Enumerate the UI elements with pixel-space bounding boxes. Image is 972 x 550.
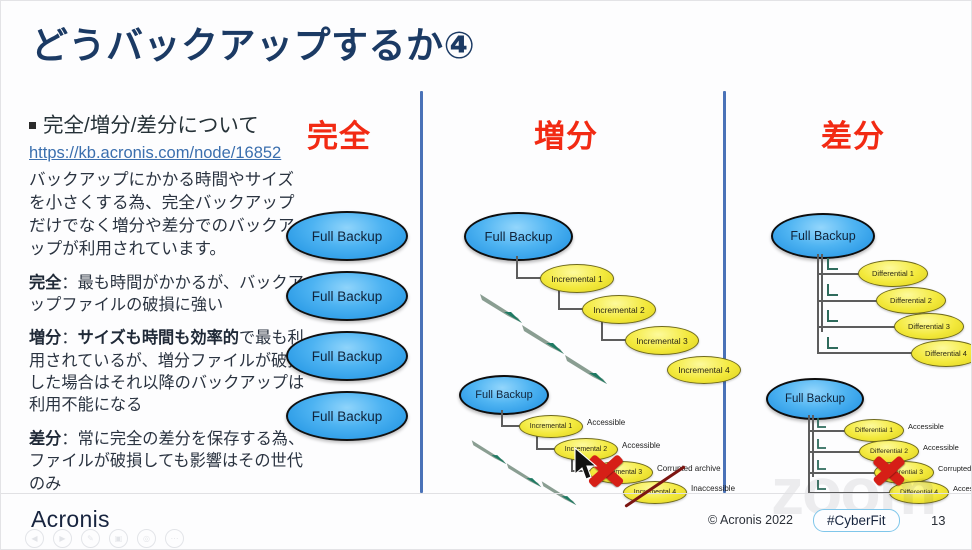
previous-icon[interactable]: ◀ bbox=[25, 529, 44, 548]
differential-node: Differential 1 bbox=[858, 260, 928, 287]
branch-arrow-icon bbox=[815, 479, 827, 493]
column-header-differential: 差分 bbox=[821, 111, 885, 156]
zoom-icon[interactable]: ◎ bbox=[137, 529, 156, 548]
footer-divider bbox=[1, 493, 972, 494]
page-number: 13 bbox=[931, 513, 945, 528]
incremental-node: Incremental 3 bbox=[625, 326, 699, 355]
paragraph-differential-term: 差分 bbox=[29, 430, 61, 448]
green-arrow-icon bbox=[504, 460, 544, 488]
incremental-chain-diagram: Full Backup Incremental 1 Incremental 2 … bbox=[456, 206, 716, 366]
connector bbox=[817, 273, 862, 275]
branch-arrow-icon bbox=[815, 417, 827, 431]
square-bullet-icon bbox=[29, 122, 36, 129]
left-text-column: 完全/増分/差分について https://kb.acronis.com/node… bbox=[29, 113, 307, 495]
connector bbox=[501, 410, 503, 426]
paragraph-incremental-bold: サイズも時間も効率的 bbox=[78, 329, 239, 347]
bullet-heading-label: 完全/増分/差分について bbox=[43, 113, 259, 139]
playback-control-bar[interactable]: ◀ ▶ ✎ ▣ ◎ ⋯ bbox=[25, 529, 184, 548]
differential-node: Differential 1 bbox=[844, 419, 904, 442]
connector bbox=[817, 352, 915, 354]
incremental-node: Incremental 1 bbox=[540, 264, 614, 293]
connector bbox=[808, 430, 848, 432]
cyberfit-badge: #CyberFit bbox=[813, 509, 900, 532]
paragraph-differential-sep: ： bbox=[61, 430, 77, 448]
paragraph-incremental-sep: ： bbox=[61, 329, 77, 347]
differential-root-node: Full Backup bbox=[771, 213, 875, 259]
screen-icon[interactable]: ▣ bbox=[109, 529, 128, 548]
status-label: Accessible bbox=[908, 422, 944, 431]
full-backup-stack: Full Backup Full Backup Full Backup Full… bbox=[286, 211, 408, 451]
differential-corrupted-diagram: Full Backup Differential 1 Differential … bbox=[758, 376, 972, 496]
branch-arrow-icon bbox=[825, 336, 839, 352]
bullet-heading: 完全/増分/差分について bbox=[29, 113, 307, 139]
trunk-connector bbox=[817, 254, 819, 353]
column-header-incremental: 増分 bbox=[534, 111, 598, 156]
status-label: Accessible bbox=[923, 443, 959, 452]
status-label: Accessible bbox=[587, 418, 625, 427]
branch-arrow-icon bbox=[815, 438, 827, 452]
red-x-icon bbox=[871, 454, 907, 487]
copyright-text: © Acronis 2022 bbox=[708, 513, 793, 527]
status-label: Accessible bbox=[953, 484, 972, 493]
green-arrow-icon bbox=[520, 321, 566, 355]
status-label: Accessible bbox=[622, 441, 660, 450]
incremental-root-node: Full Backup bbox=[464, 212, 573, 261]
paragraph-full-term: 完全 bbox=[29, 274, 61, 292]
branch-arrow-icon bbox=[825, 283, 839, 299]
kb-article-link[interactable]: https://kb.acronis.com/node/16852 bbox=[29, 143, 307, 164]
full-backup-node: Full Backup bbox=[286, 271, 408, 321]
status-label: Corrupted archive bbox=[657, 464, 721, 473]
green-arrow-icon bbox=[469, 437, 509, 465]
trunk-connector bbox=[812, 415, 814, 477]
paragraph-incremental-term: 増分 bbox=[29, 329, 61, 347]
status-label: Corrupted archive bbox=[938, 464, 972, 473]
connector bbox=[817, 300, 879, 302]
mouse-cursor-icon bbox=[573, 447, 599, 483]
column-header-full: 完全 bbox=[307, 111, 371, 156]
pen-icon[interactable]: ✎ bbox=[81, 529, 100, 548]
incremental-node: Incremental 1 bbox=[519, 415, 583, 438]
paragraph-full-sep: ： bbox=[61, 274, 77, 292]
connector bbox=[516, 256, 518, 278]
incremental-node: Incremental 2 bbox=[582, 295, 656, 324]
more-icon[interactable]: ⋯ bbox=[165, 529, 184, 548]
incremental-root-node: Full Backup bbox=[459, 375, 549, 415]
full-backup-node: Full Backup bbox=[286, 391, 408, 441]
slide-canvas: どうバックアップするか④ 完全/増分/差分について https://kb.acr… bbox=[0, 0, 972, 550]
branch-arrow-icon bbox=[825, 309, 839, 325]
branch-arrow-icon bbox=[815, 459, 827, 473]
differential-node: Differential 2 bbox=[876, 287, 946, 314]
branch-arrow-icon bbox=[825, 257, 839, 273]
trunk-connector bbox=[808, 415, 810, 493]
column-divider-2 bbox=[723, 91, 726, 493]
paragraph-incremental: 増分：サイズも時間も効率的で最も利用されているが、増分ファイルが破損した場合はそ… bbox=[29, 327, 307, 416]
page-title: どうバックアップするか④ bbox=[31, 15, 475, 69]
intro-paragraph: バックアップにかかる時間やサイズを小さくする為、完全バックアップだけでなく増分や… bbox=[29, 169, 307, 261]
status-label: Inaccessible bbox=[691, 484, 735, 493]
full-backup-node: Full Backup bbox=[286, 331, 408, 381]
differential-root-node: Full Backup bbox=[766, 378, 864, 420]
play-icon[interactable]: ▶ bbox=[53, 529, 72, 548]
differential-node: Differential 3 bbox=[894, 313, 964, 340]
paragraph-differential: 差分：常に完全の差分を保存する為、ファイルが破損しても影響はその世代のみ bbox=[29, 428, 307, 495]
connector bbox=[817, 326, 897, 328]
column-divider-1 bbox=[420, 91, 423, 493]
trunk-connector bbox=[821, 254, 823, 332]
full-backup-node: Full Backup bbox=[286, 211, 408, 261]
differential-node: Differential 4 bbox=[911, 340, 972, 367]
green-arrow-icon bbox=[478, 290, 524, 324]
differential-chain-diagram: Full Backup Differential 1 Differential … bbox=[761, 209, 971, 364]
paragraph-full: 完全：最も時間がかかるが、バックアップファイルの破損に強い bbox=[29, 272, 307, 317]
